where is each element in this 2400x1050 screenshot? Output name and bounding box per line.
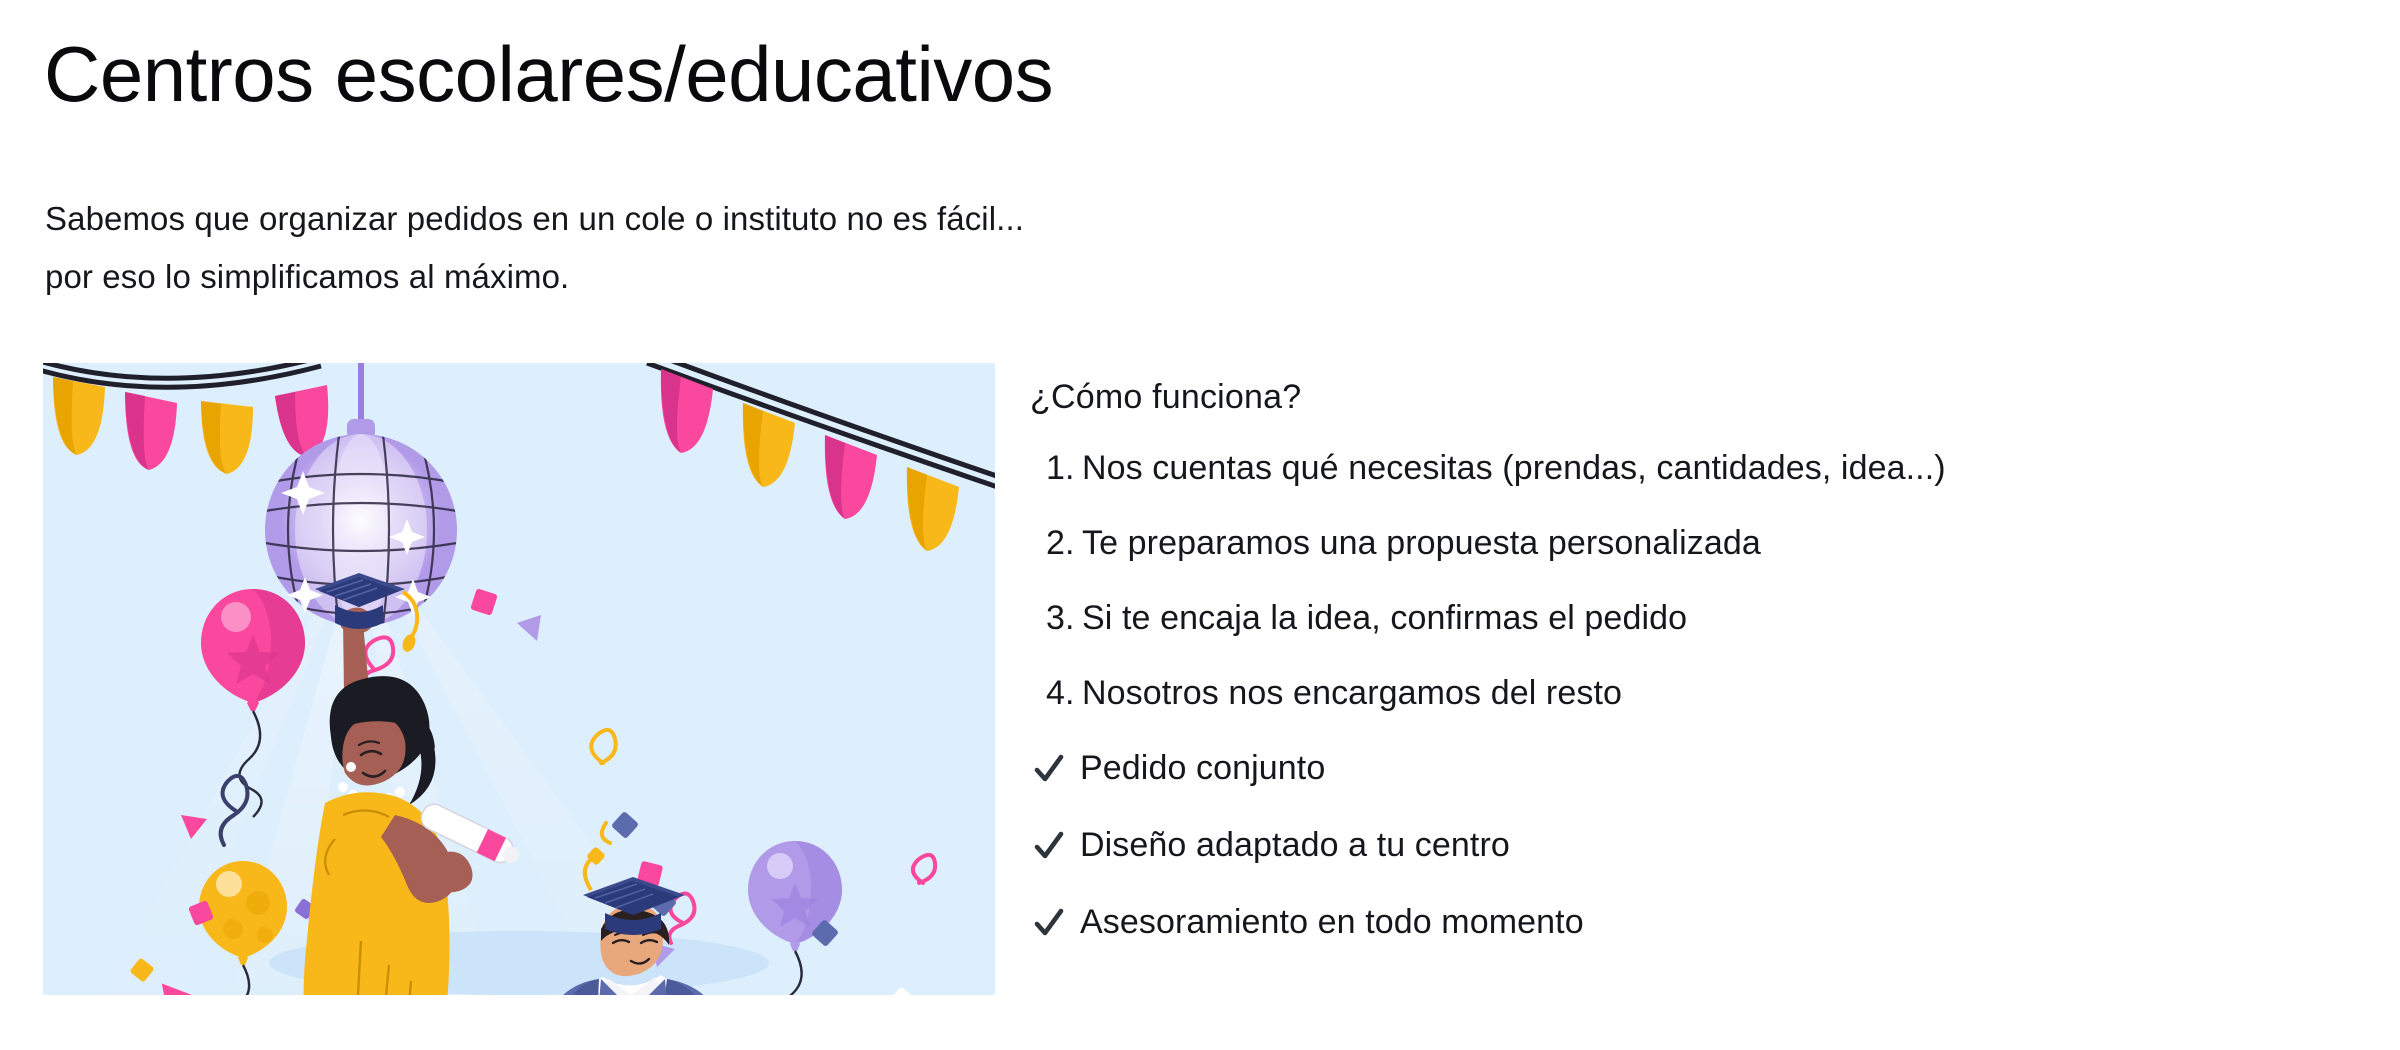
benefit-item: Pedido conjunto [1030, 743, 2360, 794]
benefit-label: Asesoramiento en todo momento [1080, 897, 1584, 948]
step-item: Nosotros nos encargamos del resto [1030, 668, 2360, 719]
page-root: Centros escolares/educativos Sabemos que… [0, 0, 2400, 1050]
steps-list: Nos cuentas qué necesitas (prendas, cant… [1030, 443, 2360, 719]
page-title: Centros escolares/educativos [44, 26, 1053, 122]
benefit-item: Diseño adaptado a tu centro [1030, 820, 2360, 871]
graduation-celebration-illustration [43, 363, 995, 995]
how-it-works-heading: ¿Cómo funciona? [1030, 377, 2360, 417]
page-subtitle: Sabemos que organizar pedidos en un cole… [45, 190, 1024, 306]
content-row: ¿Cómo funciona? Nos cuentas qué necesita… [0, 363, 2400, 1003]
subtitle-line-1: Sabemos que organizar pedidos en un cole… [45, 190, 1024, 248]
check-icon [1030, 750, 1068, 788]
benefits-list: Pedido conjunto Diseño adaptado a tu cen… [1030, 743, 2360, 948]
subtitle-line-2: por eso lo simplificamos al máximo. [45, 248, 1024, 306]
check-icon [1030, 827, 1068, 865]
benefit-label: Diseño adaptado a tu centro [1080, 820, 1510, 871]
step-item: Te preparamos una propuesta personalizad… [1030, 518, 2360, 569]
benefit-item: Asesoramiento en todo momento [1030, 897, 2360, 948]
benefit-label: Pedido conjunto [1080, 743, 1325, 794]
step-item: Nos cuentas qué necesitas (prendas, cant… [1030, 443, 2360, 494]
how-it-works-panel: ¿Cómo funciona? Nos cuentas qué necesita… [1030, 377, 2360, 974]
step-item: Si te encaja la idea, confirmas el pedid… [1030, 593, 2360, 644]
check-icon [1030, 904, 1068, 942]
